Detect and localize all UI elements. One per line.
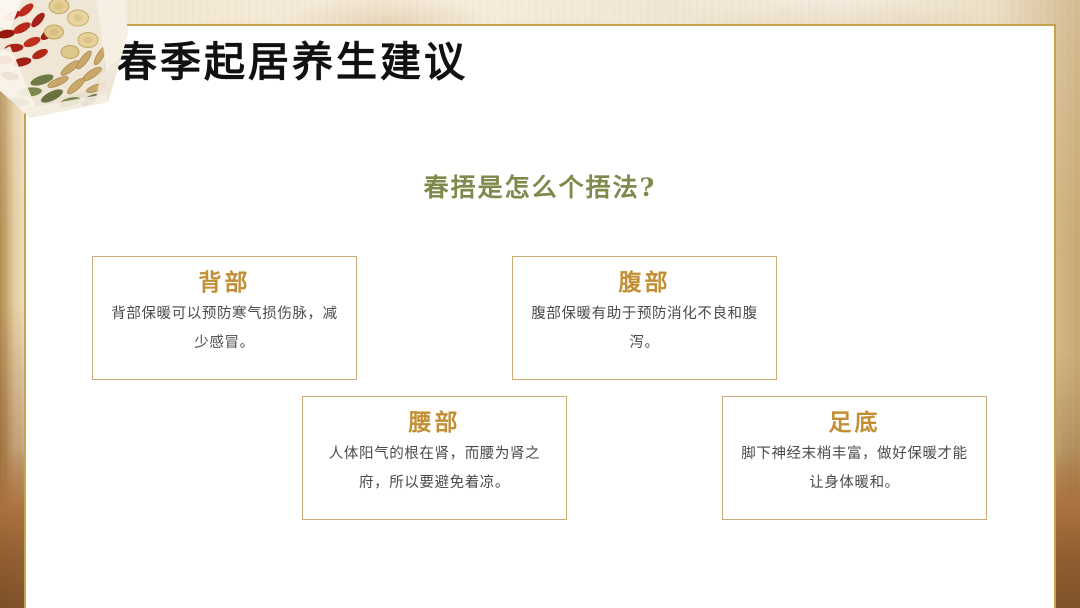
info-card-body: 背部保暖可以预防寒气损伤脉，减少感冒。 bbox=[109, 300, 340, 358]
info-card-title: 腰部 bbox=[319, 407, 550, 438]
info-card-soles: 足底 脚下神经末梢丰富，做好保暖才能让身体暖和。 bbox=[722, 396, 987, 520]
section-subtitle: 春捂是怎么个捂法? bbox=[0, 175, 1080, 200]
info-card-body: 脚下神经末梢丰富，做好保暖才能让身体暖和。 bbox=[739, 440, 970, 498]
info-card-back: 背部 背部保暖可以预防寒气损伤脉，减少感冒。 bbox=[92, 256, 357, 380]
left-edge-wood-accent bbox=[0, 448, 26, 608]
info-card-body: 人体阳气的根在肾，而腰为肾之府，所以要避免着凉。 bbox=[319, 440, 550, 498]
info-card-waist: 腰部 人体阳气的根在肾，而腰为肾之府，所以要避免着凉。 bbox=[302, 396, 567, 520]
slide-root: 春季起居养生建议 春捂是怎么个捂法? 背部 背部保暖可以预防寒气损伤脉，减少感冒… bbox=[0, 0, 1080, 608]
info-card-title: 腹部 bbox=[529, 267, 760, 298]
page-title: 春季起居养生建议 bbox=[116, 42, 468, 83]
info-card-title: 背部 bbox=[109, 267, 340, 298]
info-card-abdomen: 腹部 腹部保暖有助于预防消化不良和腹泻。 bbox=[512, 256, 777, 380]
info-card-body: 腹部保暖有助于预防消化不良和腹泻。 bbox=[529, 300, 760, 358]
right-edge-wood-accent bbox=[1054, 448, 1080, 608]
info-card-title: 足底 bbox=[739, 407, 970, 438]
